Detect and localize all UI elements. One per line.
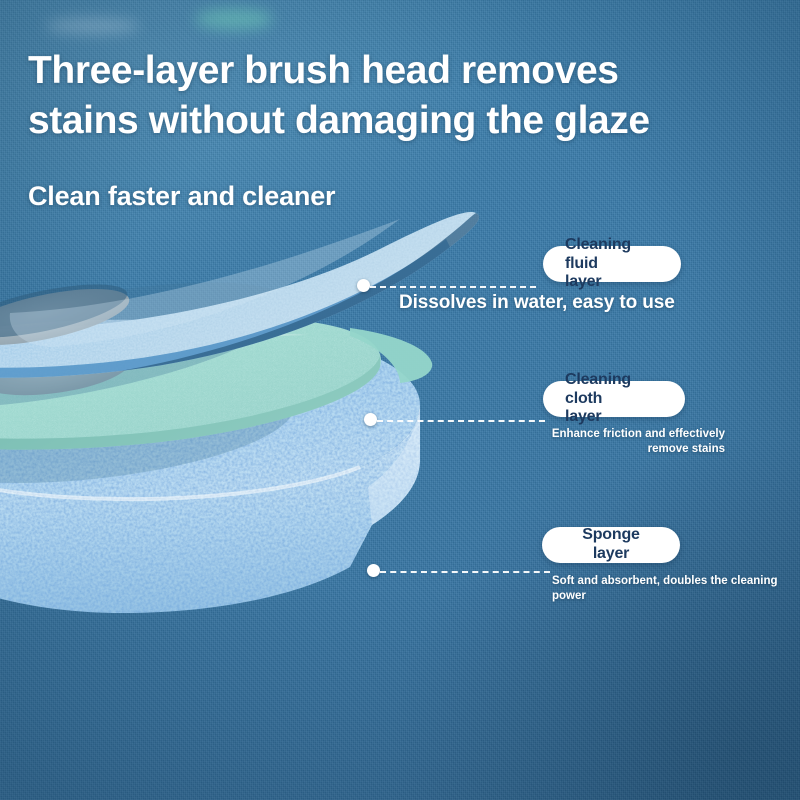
callout-dot-sponge	[367, 564, 380, 577]
callout-pill-label-line2: layer	[564, 545, 658, 564]
callout-pill-cleaning-cloth[interactable]: Cleaning cloth layer	[543, 381, 685, 417]
callout-caption-line2: remove stains	[500, 442, 725, 457]
callout-pill-label-line2: layer	[565, 408, 663, 427]
headline-line-2: stains without damaging the glaze	[28, 96, 788, 146]
product-illustration	[0, 195, 500, 775]
callout-pill-sponge[interactable]: Sponge layer	[542, 527, 680, 563]
headline-line-1: Three-layer brush head removes	[28, 46, 788, 96]
callout-pill-cleaning-fluid[interactable]: Cleaning fluid layer	[543, 246, 681, 282]
subheadline: Clean faster and cleaner	[28, 181, 335, 212]
callout-dot-cleaning-cloth	[364, 413, 377, 426]
lens-artifact-teal	[195, 8, 273, 30]
callout-pill-label-line1: Sponge	[564, 526, 658, 545]
callout-dot-cleaning-fluid	[357, 279, 370, 292]
callout-caption-sponge: Soft and absorbent, doubles the cleaning…	[552, 574, 792, 604]
layers-svg	[0, 195, 500, 775]
callout-caption-cleaning-cloth: Enhance friction and effectively remove …	[500, 427, 725, 457]
callout-pill-label-line1: Cleaning cloth	[565, 371, 663, 409]
callout-leader-line-sponge	[380, 571, 550, 573]
lens-artifact-white	[45, 18, 140, 34]
product-infographic: Three-layer brush head removes stains wi…	[0, 0, 800, 800]
callout-caption-line1: Enhance friction and effectively	[500, 427, 725, 442]
callout-caption-cleaning-fluid: Dissolves in water, easy to use	[399, 292, 675, 314]
callout-leader-line-cleaning-cloth	[377, 420, 545, 422]
callout-pill-label-line1: Cleaning fluid	[565, 236, 659, 274]
callout-pill-label-line2: layer	[565, 273, 659, 292]
headline: Three-layer brush head removes stains wi…	[28, 46, 788, 146]
callout-leader-line-cleaning-fluid	[370, 286, 536, 288]
